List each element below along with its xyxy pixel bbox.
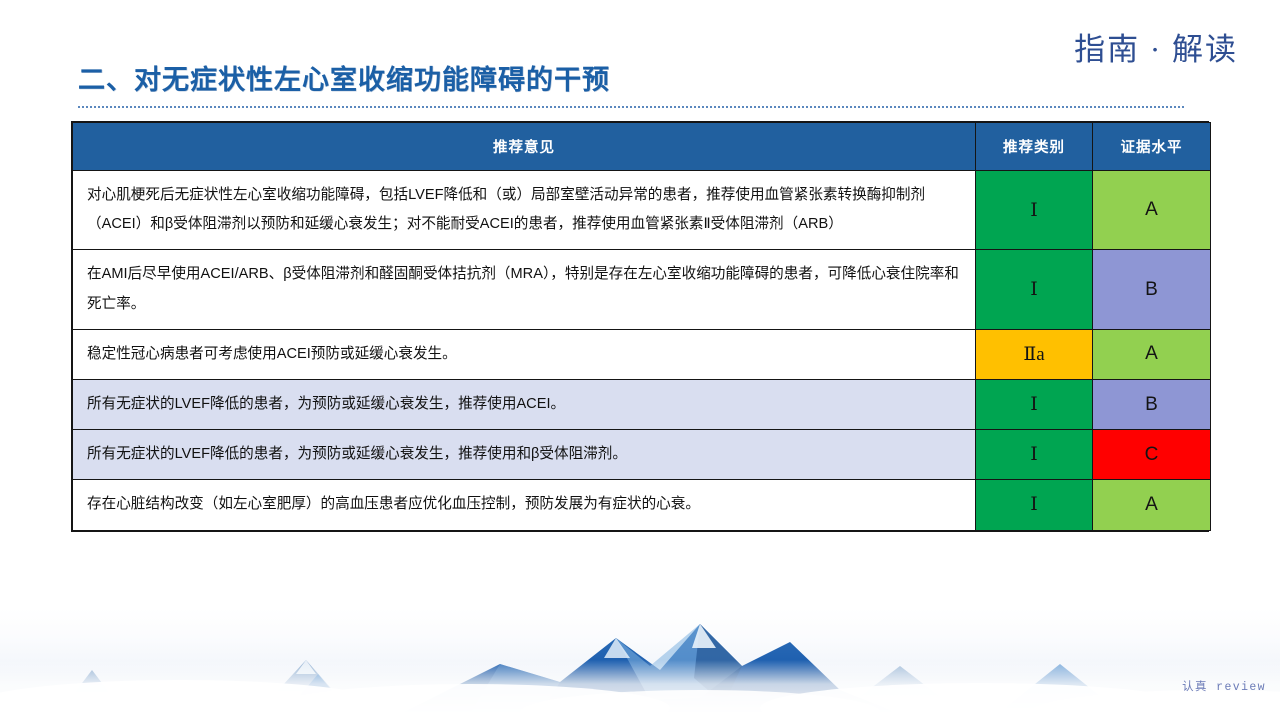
table-header: 推荐意见 推荐类别 证据水平 [73, 123, 1211, 171]
table-row: 对心肌梗死后无症状性左心室收缩功能障碍，包括LVEF降低和（或）局部室壁活动异常… [73, 171, 1211, 250]
title-block: 二、对无症状性左心室收缩功能障碍的干预 [78, 58, 1198, 108]
mountain-cloud-artwork [0, 608, 1280, 720]
page-title: 二、对无症状性左心室收缩功能障碍的干预 [78, 58, 1198, 97]
recommendations-table-container: 推荐意见 推荐类别 证据水平 对心肌梗死后无症状性左心室收缩功能障碍，包括LVE… [71, 121, 1209, 532]
table-header-row: 推荐意见 推荐类别 证据水平 [73, 123, 1211, 171]
level-badge: A [1093, 171, 1211, 250]
column-header-class: 推荐类别 [976, 123, 1093, 171]
recommendations-table: 推荐意见 推荐类别 证据水平 对心肌梗死后无症状性左心室收缩功能障碍，包括LVE… [72, 122, 1211, 531]
level-badge: C [1093, 430, 1211, 480]
table-row: 所有无症状的LVEF降低的患者，为预防或延缓心衰发生，推荐使用和β受体阻滞剂。 … [73, 430, 1211, 480]
class-badge: Ⅰ [976, 250, 1093, 329]
level-badge: B [1093, 250, 1211, 329]
column-header-level: 证据水平 [1093, 123, 1211, 171]
table-row: 存在心脏结构改变（如左心室肥厚）的高血压患者应优化血压控制，预防发展为有症状的心… [73, 480, 1211, 530]
level-badge: A [1093, 480, 1211, 530]
class-badge: Ⅱa [976, 329, 1093, 379]
watermark-text: 认真 review [1182, 678, 1266, 694]
level-badge: B [1093, 379, 1211, 429]
class-badge: Ⅰ [976, 379, 1093, 429]
table-row: 稳定性冠心病患者可考虑使用ACEI预防或延缓心衰发生。 Ⅱa A [73, 329, 1211, 379]
recommendation-text: 所有无症状的LVEF降低的患者，为预防或延缓心衰发生，推荐使用和β受体阻滞剂。 [73, 430, 976, 480]
class-badge: Ⅰ [976, 430, 1093, 480]
title-divider [78, 106, 1184, 108]
table-row: 所有无症状的LVEF降低的患者，为预防或延缓心衰发生，推荐使用ACEI。 Ⅰ B [73, 379, 1211, 429]
level-badge: A [1093, 329, 1211, 379]
column-header-recommendation: 推荐意见 [73, 123, 976, 171]
class-badge: Ⅰ [976, 171, 1093, 250]
recommendation-text: 稳定性冠心病患者可考虑使用ACEI预防或延缓心衰发生。 [73, 329, 976, 379]
recommendation-text: 所有无症状的LVEF降低的患者，为预防或延缓心衰发生，推荐使用ACEI。 [73, 379, 976, 429]
table-row: 在AMI后尽早使用ACEI/ARB、β受体阻滞剂和醛固酮受体拮抗剂（MRA），特… [73, 250, 1211, 329]
class-badge: Ⅰ [976, 480, 1093, 530]
recommendation-text: 对心肌梗死后无症状性左心室收缩功能障碍，包括LVEF降低和（或）局部室壁活动异常… [73, 171, 976, 250]
recommendation-text: 存在心脏结构改变（如左心室肥厚）的高血压患者应优化血压控制，预防发展为有症状的心… [73, 480, 976, 530]
table-body: 对心肌梗死后无症状性左心室收缩功能障碍，包括LVEF降低和（或）局部室壁活动异常… [73, 171, 1211, 531]
footer-decoration: 认真 review [0, 608, 1280, 720]
recommendation-text: 在AMI后尽早使用ACEI/ARB、β受体阻滞剂和醛固酮受体拮抗剂（MRA），特… [73, 250, 976, 329]
